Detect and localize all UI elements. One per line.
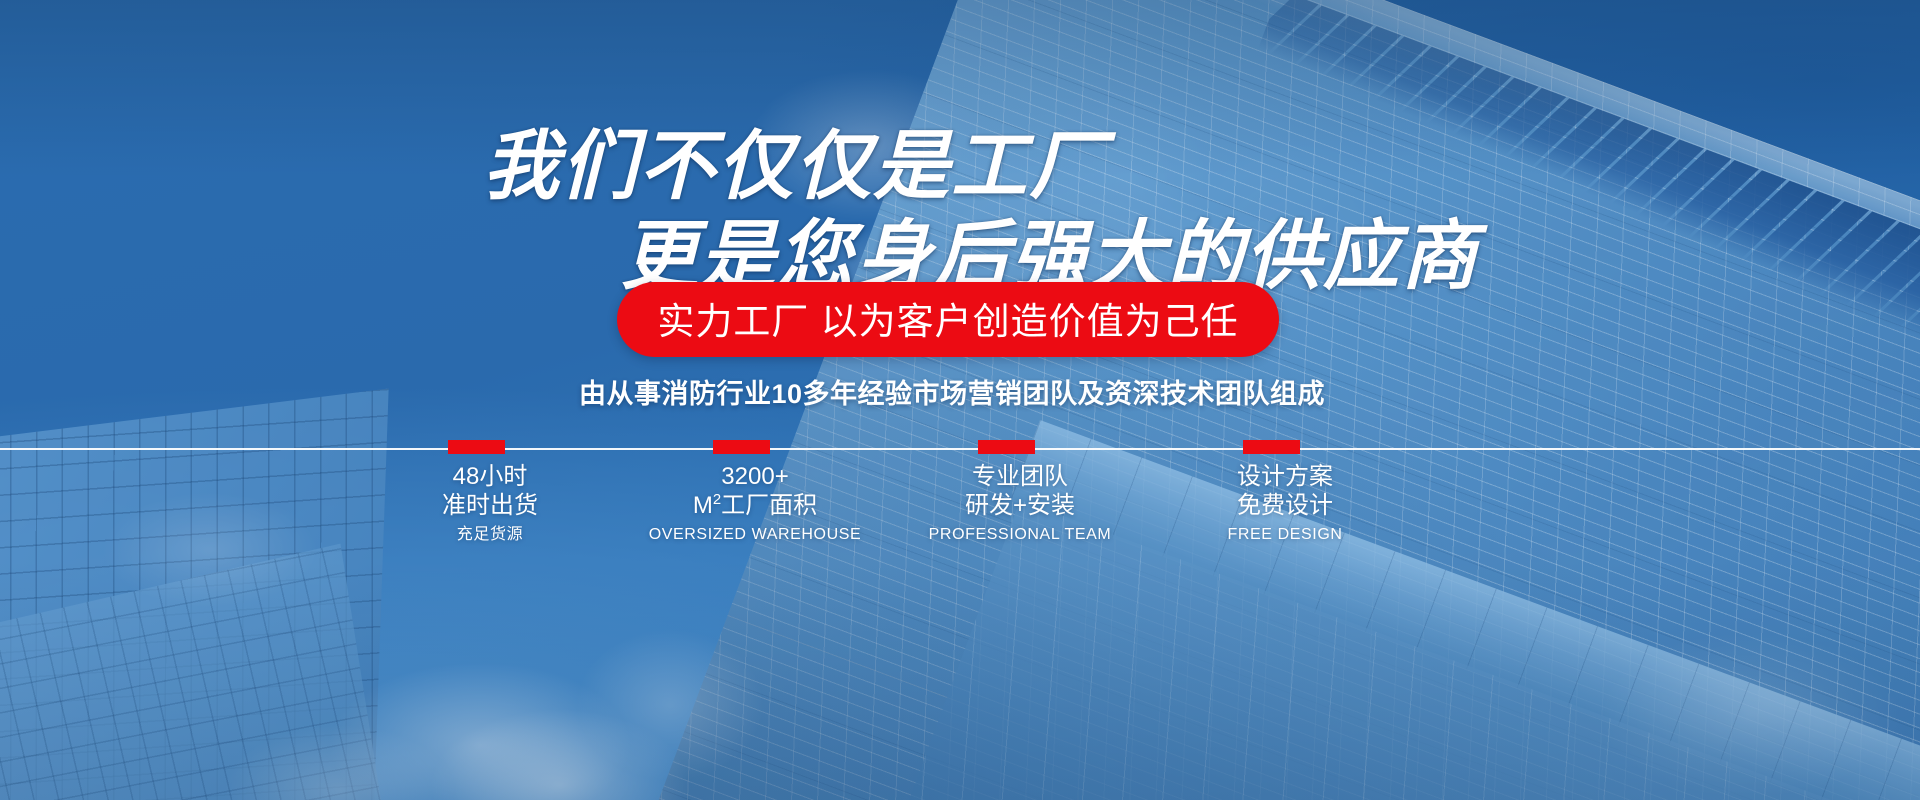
feature-column-3: 专业团队研发+安装PROFESSIONAL TEAM <box>870 462 1170 547</box>
subtitle: 由从事消防行业10多年经验市场营销团队及资深技术团队组成 <box>0 372 1912 411</box>
divider-tab-3 <box>978 440 1035 454</box>
divider-line <box>0 448 1920 450</box>
tagline-pill-wrapper: 实力工厂 以为客户创造价值为己任 <box>0 282 1920 357</box>
feature-subheadline: 免费设计 <box>1135 491 1435 520</box>
tagline-pill: 实力工厂 以为客户创造价值为己任 <box>617 282 1278 357</box>
feature-subheadline: M2工厂面积 <box>605 491 905 520</box>
divider-tab-4 <box>1243 440 1300 454</box>
divider-tab-1 <box>448 440 505 454</box>
feature-column-2: 3200+M2工厂面积OVERSIZED WAREHOUSE <box>605 462 905 547</box>
feature-column-list: 48小时准时出货充足货源3200+M2工厂面积OVERSIZED WAREHOU… <box>0 462 1920 552</box>
feature-subheadline: 研发+安装 <box>870 491 1170 520</box>
feature-headline: 设计方案 <box>1135 462 1435 491</box>
feature-headline: 3200+ <box>605 462 905 491</box>
feature-column-1: 48小时准时出货充足货源 <box>340 462 640 547</box>
feature-caption: 充足货源 <box>340 523 640 547</box>
feature-subheadline: 准时出货 <box>340 491 640 520</box>
promo-banner: 我们不仅仅是工厂 更是您身后强大的供应商 实力工厂 以为客户创造价值为己任 由从… <box>0 0 1920 800</box>
feature-caption: FREE DESIGN <box>1135 523 1435 547</box>
feature-headline: 专业团队 <box>870 462 1170 491</box>
feature-caption: PROFESSIONAL TEAM <box>870 523 1170 547</box>
superscript-unit: 2 <box>713 492 721 508</box>
feature-column-4: 设计方案免费设计FREE DESIGN <box>1135 462 1435 547</box>
feature-headline: 48小时 <box>340 462 640 491</box>
feature-caption: OVERSIZED WAREHOUSE <box>605 523 905 547</box>
divider-tab-2 <box>713 440 770 454</box>
